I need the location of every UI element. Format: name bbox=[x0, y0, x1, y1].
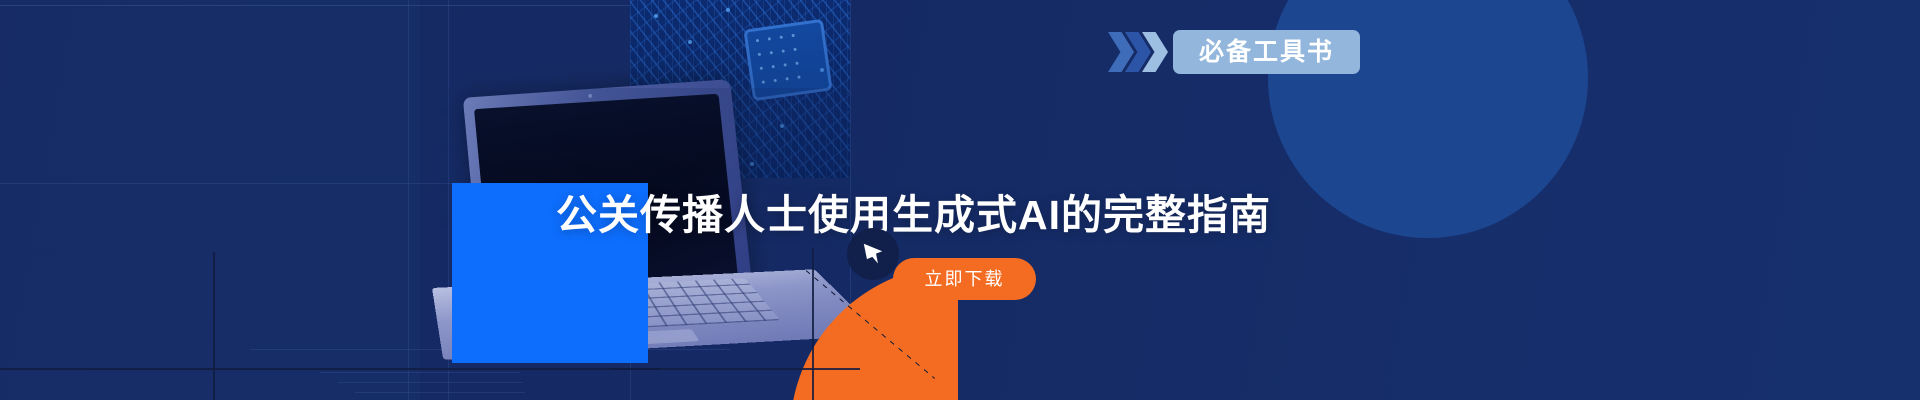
download-button[interactable]: 立即下载 bbox=[893, 258, 1036, 300]
badge-label: 必备工具书 bbox=[1199, 40, 1334, 65]
dark-line-vertical bbox=[213, 252, 215, 400]
page-title: 公关传播人士使用生成式AI的完整指南 bbox=[556, 181, 1271, 241]
dark-line-vertical bbox=[812, 248, 814, 400]
laptop-camera bbox=[588, 94, 592, 98]
badge: 必备工具书 bbox=[1108, 30, 1360, 74]
download-button-label: 立即下载 bbox=[925, 270, 1005, 288]
badge-pill: 必备工具书 bbox=[1173, 30, 1360, 74]
dark-line-horizontal bbox=[0, 368, 660, 370]
cursor-arrow-icon bbox=[847, 228, 899, 280]
background-left-panel bbox=[0, 0, 420, 400]
dark-line-horizontal bbox=[610, 368, 860, 370]
promo-banner: 必备工具书 公关传播人士使用生成式AI的完整指南 立即下载 bbox=[0, 0, 1920, 400]
grid-line-vertical bbox=[408, 0, 409, 400]
